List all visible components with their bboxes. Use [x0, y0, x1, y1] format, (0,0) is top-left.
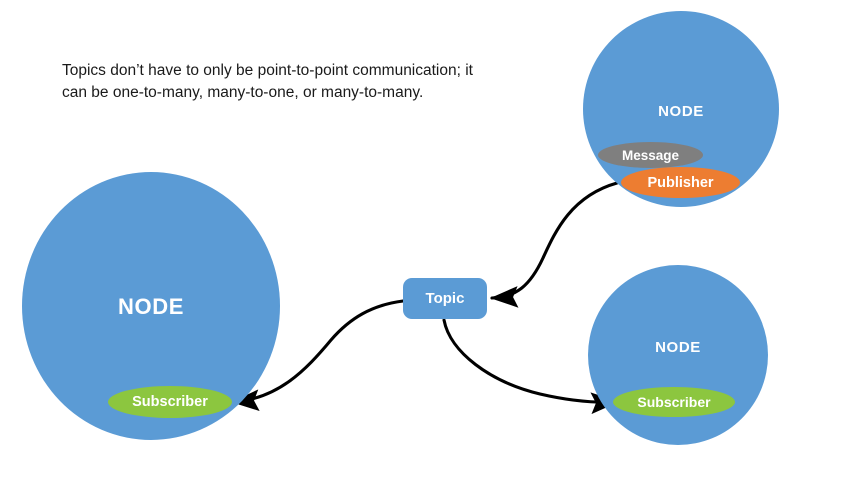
node-label-subscriber-left: NODE — [22, 294, 280, 320]
diagram-canvas: Topics don’t have to only be point-to-po… — [0, 0, 854, 480]
node-label-publisher-top-right: NODE — [583, 103, 779, 120]
topic-box[interactable]: Topic — [403, 278, 487, 319]
arrow-publisher-to-topic — [492, 183, 617, 298]
subscriber-pill-left: Subscriber — [108, 386, 232, 418]
message-pill: Message — [598, 142, 703, 168]
caption-text: Topics don’t have to only be point-to-po… — [62, 60, 482, 105]
node-label-subscriber-bottom-right: NODE — [588, 339, 768, 356]
publisher-pill: Publisher — [621, 167, 740, 198]
subscriber-pill-bottom-right: Subscriber — [613, 387, 735, 417]
